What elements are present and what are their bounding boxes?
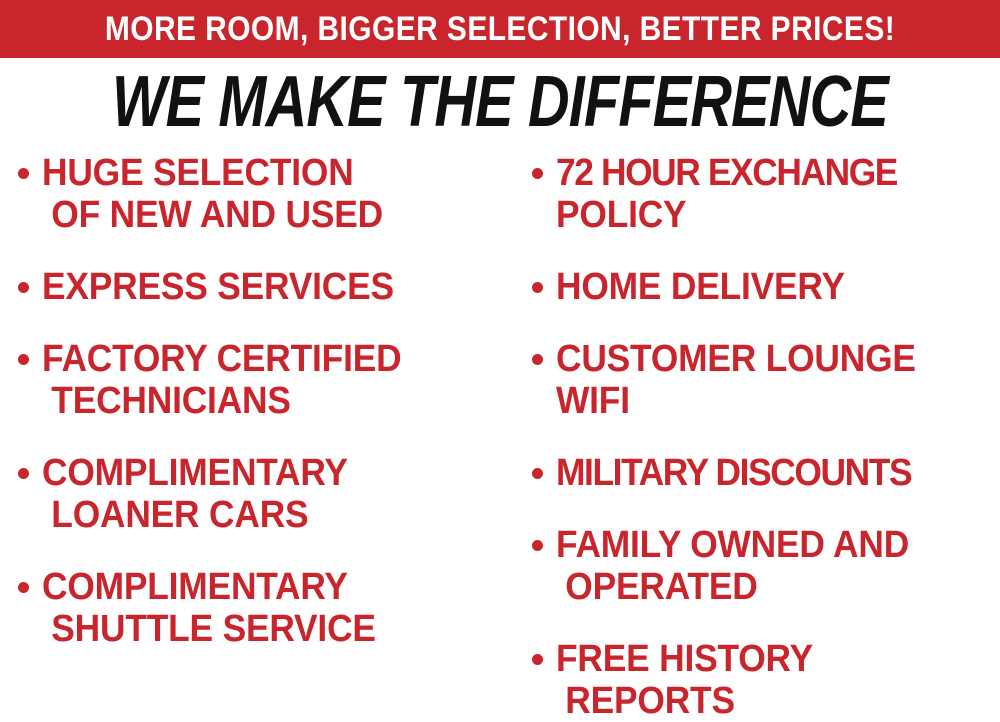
list-item: CUSTOMER LOUNGE WIFI <box>532 338 998 422</box>
list-item-text: FACTORY CERTIFIED TECHNICIANS <box>42 338 474 422</box>
bullet-dot-icon <box>532 168 543 179</box>
list-item: FACTORY CERTIFIED TECHNICIANS <box>18 338 506 422</box>
list-item: COMPLIMENTARY LOANER CARS <box>18 452 506 536</box>
benefits-columns: HUGE SELECTION OF NEW AND USED EXPRESS S… <box>0 152 1000 694</box>
list-item-line-1: EXPRESS SERVICES <box>42 266 474 308</box>
bullet-dot-icon <box>18 468 29 479</box>
list-item-line-1: 72 HOUR EXCHANGE <box>556 152 967 194</box>
top-banner: MORE ROOM, BIGGER SELECTION, BETTER PRIC… <box>0 0 1000 58</box>
promo-poster: MORE ROOM, BIGGER SELECTION, BETTER PRIC… <box>0 0 1000 694</box>
list-item-line-1: FAMILY OWNED AND <box>556 524 967 566</box>
list-item-line-2: SHUTTLE SERVICE <box>42 608 474 650</box>
list-item-line-1: HOME DELIVERY <box>556 266 967 308</box>
bullet-dot-icon <box>532 468 543 479</box>
list-item-line-2: OF NEW AND USED <box>42 194 474 236</box>
bullet-dot-icon <box>532 654 543 665</box>
list-item-line-2: OPERATED <box>556 566 967 608</box>
list-item-line-2: REPORTS <box>556 680 967 722</box>
list-item-text: COMPLIMENTARY LOANER CARS <box>42 452 474 536</box>
list-item-line-1: COMPLIMENTARY <box>42 452 474 494</box>
list-item: 72 HOUR EXCHANGE POLICY <box>532 152 998 236</box>
list-item: EXPRESS SERVICES <box>18 266 506 308</box>
list-item: MILITARY DISCOUNTS <box>532 452 998 494</box>
list-item: FAMILY OWNED AND OPERATED <box>532 524 998 608</box>
list-item-line-2: LOANER CARS <box>42 494 474 536</box>
bullet-dot-icon <box>532 354 543 365</box>
headline-container: WE MAKE THE DIFFERENCE <box>0 64 1000 140</box>
bullet-dot-icon <box>18 168 29 179</box>
list-item-text: 72 HOUR EXCHANGE POLICY <box>556 152 967 236</box>
list-item-text: MILITARY DISCOUNTS <box>556 452 967 494</box>
list-item: COMPLIMENTARY SHUTTLE SERVICE <box>18 566 506 650</box>
list-item-text: EXPRESS SERVICES <box>42 266 474 308</box>
list-item-text: CUSTOMER LOUNGE WIFI <box>556 338 967 422</box>
bullet-dot-icon <box>18 354 29 365</box>
list-item-text: FAMILY OWNED AND OPERATED <box>556 524 967 608</box>
bullet-dot-icon <box>18 582 29 593</box>
list-item-text: COMPLIMENTARY SHUTTLE SERVICE <box>42 566 474 650</box>
bullet-dot-icon <box>532 540 543 551</box>
list-item-line-2: POLICY <box>556 194 967 236</box>
list-item-line-1: COMPLIMENTARY <box>42 566 474 608</box>
list-item-line-1: FREE HISTORY <box>556 638 967 680</box>
list-item: HUGE SELECTION OF NEW AND USED <box>18 152 506 236</box>
list-item: HOME DELIVERY <box>532 266 998 308</box>
list-item-line-1: FACTORY CERTIFIED <box>42 338 474 380</box>
bullet-dot-icon <box>532 282 543 293</box>
list-item-text: HOME DELIVERY <box>556 266 967 308</box>
list-item-line-1: HUGE SELECTION <box>42 152 474 194</box>
benefits-column-right: 72 HOUR EXCHANGE POLICY HOME DELIVERY CU… <box>510 152 1000 694</box>
list-item-line-1: MILITARY DISCOUNTS <box>556 452 967 494</box>
list-item-line-2: TECHNICIANS <box>42 380 474 422</box>
list-item-line-2: WIFI <box>556 380 967 422</box>
banner-headline-text: MORE ROOM, BIGGER SELECTION, BETTER PRIC… <box>105 12 895 46</box>
bullet-dot-icon <box>18 282 29 293</box>
list-item: FREE HISTORY REPORTS <box>532 638 998 722</box>
page-title: WE MAKE THE DIFFERENCE <box>112 66 888 138</box>
list-item-text: HUGE SELECTION OF NEW AND USED <box>42 152 474 236</box>
benefits-column-left: HUGE SELECTION OF NEW AND USED EXPRESS S… <box>0 152 510 694</box>
list-item-line-1: CUSTOMER LOUNGE <box>556 338 967 380</box>
list-item-text: FREE HISTORY REPORTS <box>556 638 967 722</box>
